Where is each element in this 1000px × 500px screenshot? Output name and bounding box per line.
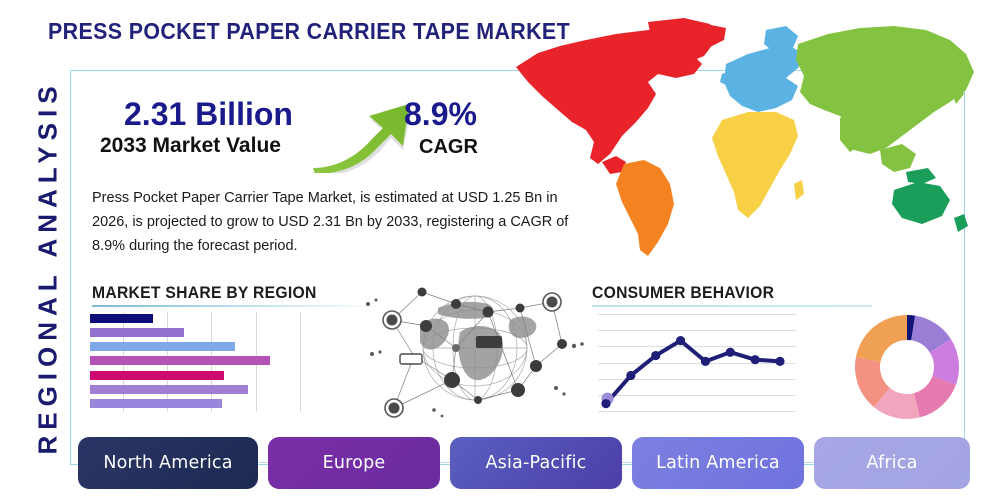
region-pill-north-america[interactable]: North America [78,437,258,489]
line-marker [676,336,685,345]
pill-connector [622,462,632,463]
map-region-oceania [892,182,950,224]
side-label-regional-analysis: REGIONAL ANALYSIS [33,68,64,468]
bar-row [90,399,222,408]
section-rule-market-share [92,305,384,307]
bar-gridline [300,312,301,412]
pill-connector [440,462,450,463]
bar-segment [90,314,153,323]
pill-connector [258,462,268,463]
line-marker [775,357,784,366]
line-marker [751,355,760,364]
region-pill-latin-america[interactable]: Latin America [632,437,804,489]
cagr-label: CAGR [419,136,478,159]
map-region-new-zealand [954,214,968,232]
map-region-europe [724,46,804,112]
map-region-south-america [616,160,674,256]
line-marker [601,399,610,408]
section-rule-consumer-behavior [592,305,872,307]
line-marker [726,348,735,357]
map-region-africa [712,112,798,218]
bar-row [90,314,153,323]
bar-segment [90,399,222,408]
donut-segment [856,315,907,362]
kpi-block: 2.31 Billion 2033 Market Value 8.9% CAGR [92,96,512,166]
line-marker [626,371,635,380]
bar-segment [90,371,224,380]
summary-paragraph: Press Pocket Paper Carrier Tape Market, … [92,186,572,258]
line-marker [701,357,710,366]
bar-segment [90,342,235,351]
bar-segment [90,328,184,337]
bar-segment [90,356,270,365]
map-region-new-guinea [906,168,936,184]
market-share-bar-chart [90,312,320,412]
donut-chart [848,308,966,426]
region-pill-africa[interactable]: Africa [814,437,970,489]
page-title: PRESS POCKET PAPER CARRIER TAPE MARKET [48,18,570,45]
cagr-value: 8.9% [404,96,477,133]
region-pill-row: North AmericaEuropeAsia-PacificLatin Ame… [78,437,958,489]
line-chart-series [598,310,796,415]
line-marker [651,351,660,360]
bar-segment [90,385,248,394]
section-heading-market-share: MARKET SHARE BY REGION [92,284,317,303]
global-network-icon [360,280,590,422]
market-value: 2.31 Billion [124,96,293,133]
map-region-asia [796,26,974,154]
infographic-root: PRESS POCKET PAPER CARRIER TAPE MARKET R… [0,0,1000,500]
region-pill-europe[interactable]: Europe [268,437,440,489]
bar-row [90,356,270,365]
pill-connector [804,462,814,463]
bar-row [90,328,184,337]
world-map-icon [498,12,993,274]
consumer-behavior-line-chart [598,310,796,415]
map-region-madagascar [794,180,804,200]
section-heading-consumer-behavior: CONSUMER BEHAVIOR [592,284,774,303]
bar-row [90,342,235,351]
market-value-label: 2033 Market Value [100,134,281,158]
bar-row [90,371,224,380]
region-pill-asia-pacific[interactable]: Asia-Pacific [450,437,622,489]
bar-row [90,385,248,394]
donut-segment [914,376,956,417]
